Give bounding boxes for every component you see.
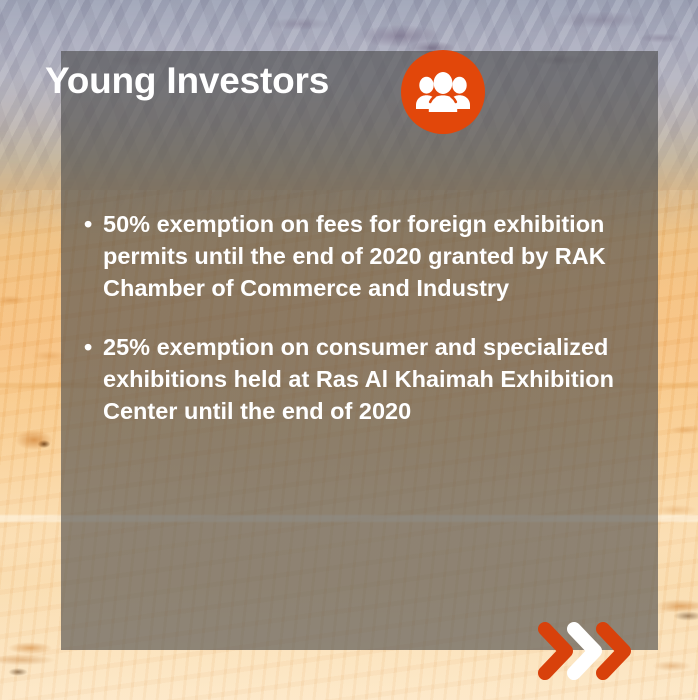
bullet-marker-icon: • (84, 331, 103, 363)
card-header: Young Investors (45, 50, 500, 146)
list-item-text: 50% exemption on fees for foreign exhibi… (103, 208, 614, 304)
list-item: • 50% exemption on fees for foreign exhi… (84, 208, 614, 304)
people-group-icon (401, 50, 485, 134)
triple-chevron-right-icon (536, 618, 632, 684)
page-title: Young Investors (45, 60, 329, 102)
slide-canvas: Young Investors • 50% exemption on fees (0, 0, 698, 700)
benefits-list: • 50% exemption on fees for foreign exhi… (84, 208, 614, 427)
bullet-marker-icon: • (84, 208, 103, 240)
list-item-text: 25% exemption on consumer and specialize… (103, 331, 614, 427)
list-item: • 25% exemption on consumer and speciali… (84, 331, 614, 427)
